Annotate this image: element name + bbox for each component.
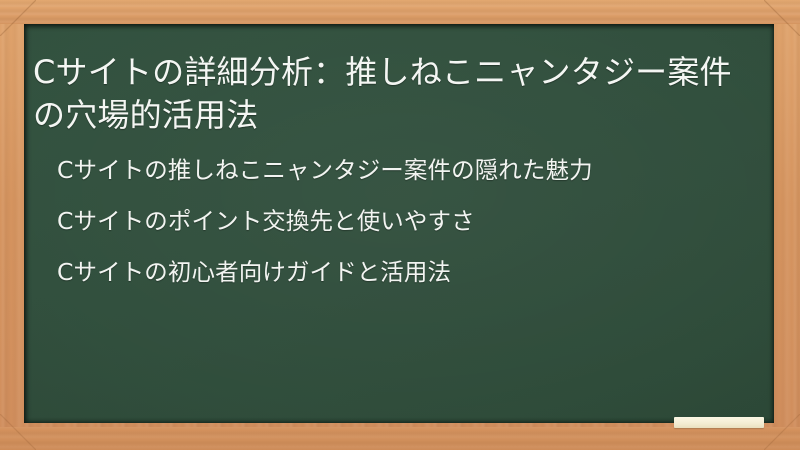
page-title: Cサイトの詳細分析：推しねこニャンタジー案件の穴場的活用法	[33, 51, 733, 137]
list-item: Cサイトの推しねこニャンタジー案件の隠れた魅力	[57, 151, 742, 190]
topic-list: Cサイトの推しねこニャンタジー案件の隠れた魅力 Cサイトのポイント交換先と使いや…	[57, 151, 742, 292]
frame-rail-top	[0, 0, 800, 24]
chalkboard-content: Cサイトの詳細分析：推しねこニャンタジー案件の穴場的活用法 Cサイトの推しねこニ…	[24, 24, 774, 423]
list-item: Cサイトのポイント交換先と使いやすさ	[57, 202, 742, 241]
list-item: Cサイトの初心者向けガイドと活用法	[57, 253, 742, 292]
blackboard-frame: Cサイトの詳細分析：推しねこニャンタジー案件の穴場的活用法 Cサイトの推しねこニ…	[0, 0, 800, 450]
chalk-stick	[674, 417, 764, 428]
chalkboard-surface: Cサイトの詳細分析：推しねこニャンタジー案件の穴場的活用法 Cサイトの推しねこニ…	[24, 24, 774, 423]
frame-rail-bottom	[0, 427, 800, 450]
